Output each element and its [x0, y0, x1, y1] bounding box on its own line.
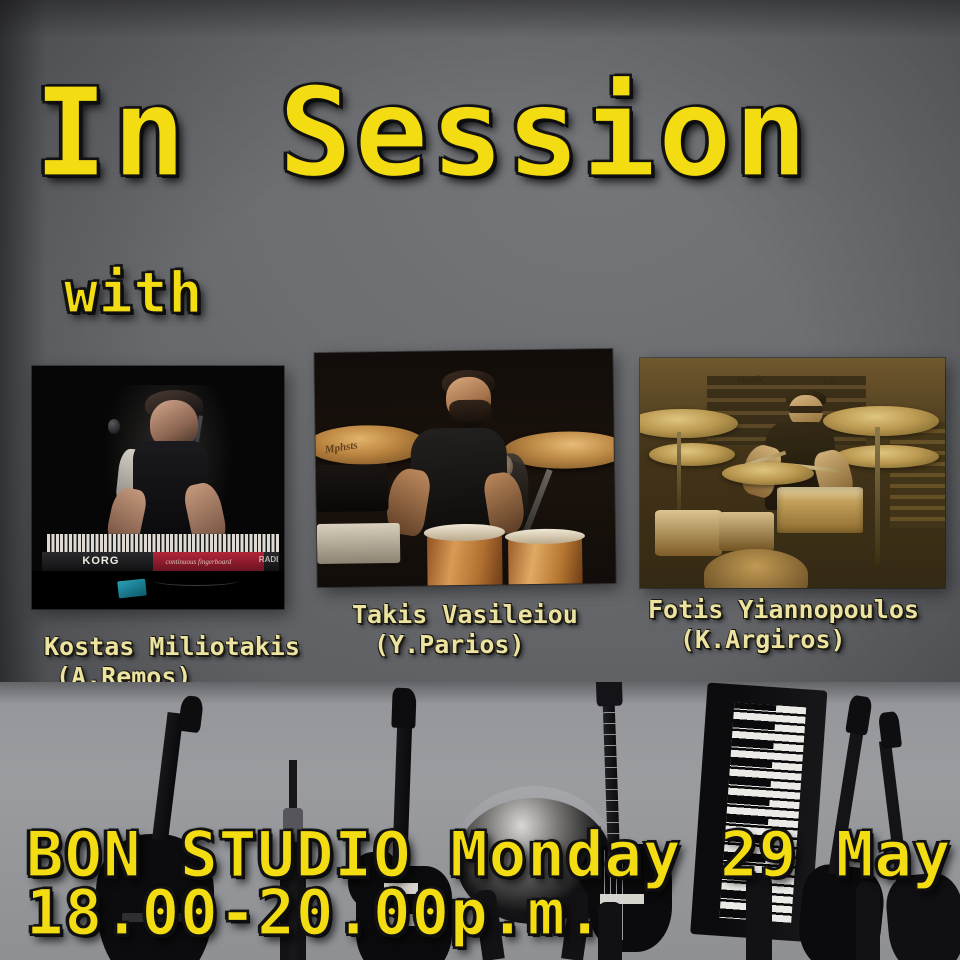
- performer-name: Kostas Miliotakis: [44, 632, 300, 661]
- performer-beard: [449, 400, 491, 429]
- keyboardist-photo: KORG continuous fingerboard RADI: [32, 366, 284, 609]
- keyboard-brand-sublabel: continuous fingerboard: [166, 558, 232, 566]
- caption-fotis-yiannopoulos: Fotis Yiannopoulos (K.Argiros): [648, 595, 919, 654]
- background-snare-drum: [317, 523, 401, 564]
- performer-credit: (Y.Parios): [374, 630, 578, 660]
- performer-name: Fotis Yiannopoulos: [648, 595, 919, 624]
- title-word-session: Session: [279, 62, 810, 204]
- stage-cable: [153, 575, 239, 586]
- performer-photo-takis-vasileiou: Mphsts: [314, 349, 615, 587]
- performer-photo-kostas-miliotakis: KORG continuous fingerboard RADI: [32, 366, 284, 609]
- sepia-tone-overlay: [640, 358, 945, 588]
- top-edge-shadow: [0, 0, 960, 38]
- upper-keyboard-keys: [47, 534, 279, 552]
- event-poster: InSession with KORG continuous fingerboa…: [0, 0, 960, 960]
- keyboard-brand-right-label: RADI: [259, 555, 279, 564]
- hand-holding-right-guitar: [856, 882, 880, 960]
- dark-equipment-block: [316, 464, 388, 512]
- acoustic-guitar-headstock: [178, 695, 204, 733]
- event-time: 18.00-20.00p.m.: [26, 876, 605, 949]
- title-word-in: In: [34, 62, 191, 204]
- bass-guitar-headstock: [595, 682, 623, 706]
- with-label: with: [64, 266, 203, 322]
- electric-guitar-headstock: [391, 688, 416, 729]
- secondary-microphone-icon: [108, 419, 121, 434]
- drummer-photo: stanb' late: [640, 358, 945, 588]
- teal-stage-light: [117, 578, 146, 598]
- percussionist-photo: Mphsts: [314, 349, 615, 587]
- far-right-guitar-headstock: [878, 711, 902, 749]
- caption-takis-vasileiou: Takis Vasileiou (Y.Parios): [352, 600, 578, 659]
- right-guitar-headstock: [845, 695, 873, 736]
- page-title: InSession: [34, 72, 934, 194]
- performer-credit: (K.Argiros): [680, 625, 919, 655]
- performer-photo-fotis-yiannopoulos: stanb' late: [640, 358, 945, 588]
- performer-name: Takis Vasileiou: [352, 600, 578, 629]
- korg-brand-label: KORG: [82, 555, 119, 567]
